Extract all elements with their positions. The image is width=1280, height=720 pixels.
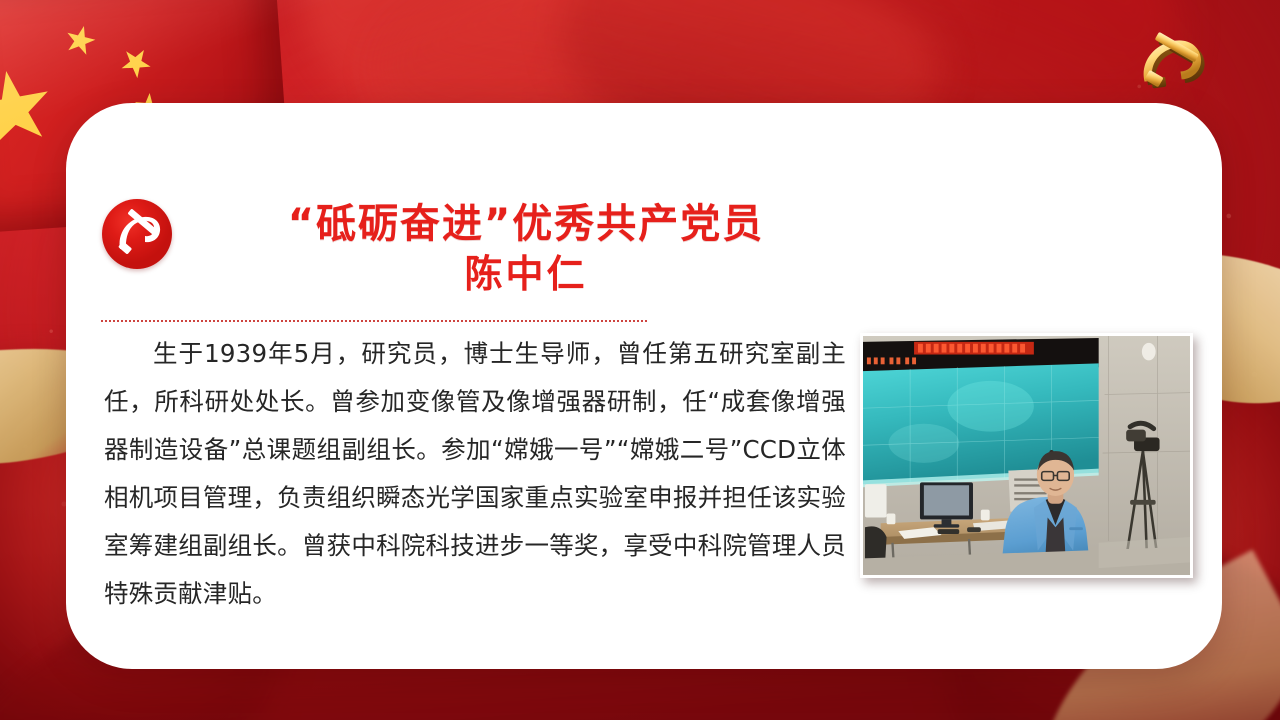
dotted-divider xyxy=(101,320,647,322)
person-photo xyxy=(860,333,1193,578)
person-name: 陈中仁 xyxy=(196,253,856,296)
page-title: “砥砺奋进”优秀共产党员 xyxy=(196,202,856,247)
biography-text: 生于1939年5月，研究员，博士生导师，曾任第五研究室副主任，所科研处处长。曾参… xyxy=(104,330,846,618)
title-block: “砥砺奋进”优秀共产党员 陈中仁 xyxy=(196,202,856,295)
slide-root: “砥砺奋进”优秀共产党员 陈中仁 生于1939年5月，研究员，博士生导师，曾任第… xyxy=(0,0,1280,720)
gold-hammer-sickle-emblem-icon xyxy=(1120,22,1230,100)
hammer-sickle-badge-icon xyxy=(102,199,172,269)
